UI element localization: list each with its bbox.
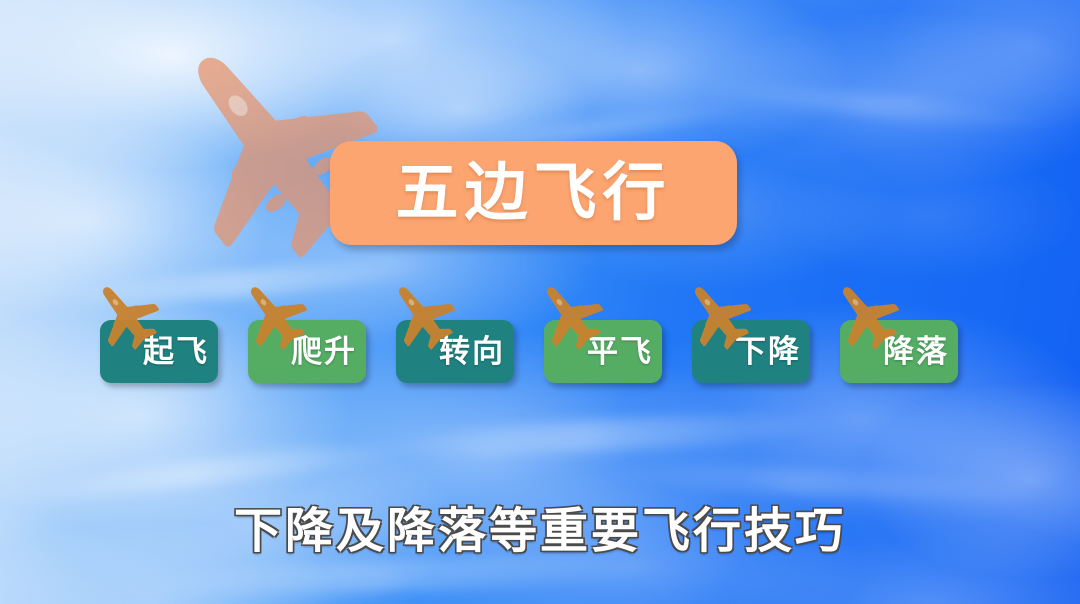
slide-canvas: 五边飞行 起飞 (0, 0, 1080, 604)
list-item[interactable]: 起飞 (88, 278, 236, 388)
airplane-icon (532, 278, 610, 356)
airplane-icon (680, 278, 758, 356)
list-item[interactable]: 降落 (828, 278, 976, 388)
airplane-icon (384, 278, 462, 356)
airplane-icon (828, 278, 906, 356)
list-item[interactable]: 下降 (680, 278, 828, 388)
title-banner: 五边飞行 (330, 141, 737, 245)
list-item[interactable]: 转向 (384, 278, 532, 388)
page-title: 五边飞行 (396, 162, 672, 225)
airplane-icon (88, 278, 166, 356)
flight-stage-list: 起飞 爬升 (0, 278, 1080, 388)
list-item[interactable]: 平飞 (532, 278, 680, 388)
subtitle-caption: 下降及降落等重要飞行技巧 (0, 503, 1080, 561)
airplane-icon (236, 278, 314, 356)
list-item[interactable]: 爬升 (236, 278, 384, 388)
